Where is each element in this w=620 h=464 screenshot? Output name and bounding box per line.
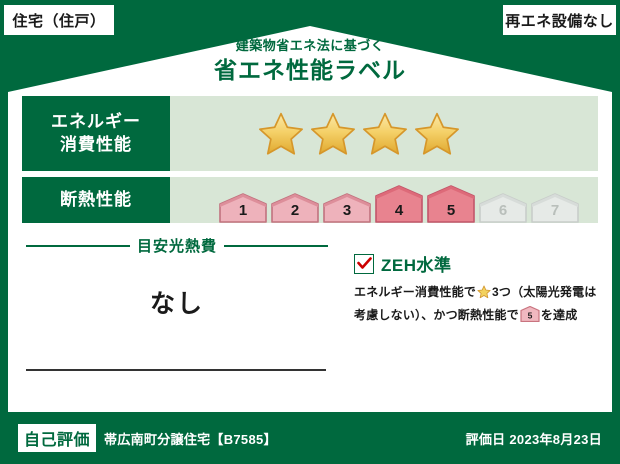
insulation-grade-5: 5	[426, 185, 476, 223]
zeh-title: ZEH水準	[381, 251, 452, 276]
insulation-label-text: 断熱性能	[60, 189, 132, 212]
insulation-grade-3: 3	[322, 193, 372, 223]
insulation-grade-2: 2	[270, 193, 320, 223]
page-title: 建築物省エネ法に基づく 省エネ性能ラベル	[0, 38, 620, 84]
grade-house-icon	[427, 185, 475, 223]
insulation-grade-4: 4	[374, 185, 424, 223]
energy-label-line2: 消費性能	[60, 134, 132, 157]
zeh-checkbox	[354, 254, 374, 274]
utility-cost-heading: 目安光熱費	[22, 235, 332, 256]
energy-performance-label: エネルギー 消費性能	[22, 96, 170, 171]
title-subtitle: 建築物省エネ法に基づく	[0, 38, 620, 54]
insulation-grade-1: 1	[218, 193, 268, 223]
grade-house-icon	[219, 193, 267, 223]
star-icon	[258, 111, 304, 157]
utility-cost-bottom-rule	[26, 369, 326, 371]
grade-house-icon	[375, 185, 423, 223]
insulation-grade-scale: 1234567	[170, 177, 580, 223]
grade-house-icon	[271, 193, 319, 223]
star-icon	[310, 111, 356, 157]
badge-building-type: 住宅（住戸）	[4, 5, 114, 35]
check-icon	[357, 257, 372, 270]
star-icon	[414, 111, 460, 157]
energy-label-line1: エネルギー	[51, 111, 141, 134]
grade-house-icon	[479, 193, 527, 223]
utility-cost-title: 目安光熱費	[137, 235, 217, 256]
badge-building-type-label: 住宅（住戸）	[12, 10, 105, 31]
grade-house-icon	[323, 193, 371, 223]
zeh-heading: ZEH水準	[354, 251, 598, 276]
energy-label: 住宅（住戸） 再エネ設備なし 建築物省エネ法に基づく 省エネ性能ラベル エネルギ…	[0, 0, 620, 464]
evaluation-date: 評価日 2023年8月23日	[466, 429, 602, 448]
self-evaluation-badge: 自己評価	[18, 424, 96, 452]
title-main: 省エネ性能ラベル	[0, 56, 620, 85]
utility-cost-value: なし	[22, 284, 332, 320]
energy-performance-row: エネルギー 消費性能	[22, 96, 598, 171]
utility-cost-section: 目安光熱費 なし	[22, 229, 332, 407]
insulation-performance-value: 1234567	[170, 177, 598, 223]
lower-section: 目安光熱費 なし ZEH水準 エネルギー消費性能で	[22, 229, 598, 407]
grade-house-icon	[531, 193, 579, 223]
zeh-desc-part2: 3つ（太陽光発電	[492, 285, 584, 299]
inline-grade-badge: 5	[520, 306, 540, 329]
footer: 自己評価 帯広南町分譲住宅【B7585】 評価日 2023年8月23日	[0, 412, 620, 464]
zeh-section: ZEH水準 エネルギー消費性能で 3つ（太陽光発電は考慮しない）、かつ断熱性能で…	[332, 229, 598, 407]
insulation-performance-label: 断熱性能	[22, 177, 170, 223]
insulation-grade-7: 7	[530, 193, 580, 223]
insulation-grade-6: 6	[478, 193, 528, 223]
project-name: 帯広南町分譲住宅【B7585】	[104, 429, 277, 448]
insulation-performance-row: 断熱性能 1234567	[22, 177, 598, 223]
star-rating	[170, 111, 460, 157]
inline-star-icon	[477, 285, 491, 306]
rule-left	[26, 245, 130, 247]
energy-performance-value	[170, 96, 598, 171]
zeh-desc-part1: エネルギー消費性能で	[354, 285, 476, 299]
label-body: エネルギー 消費性能 断熱性能 1234567 目安光熱費	[22, 96, 598, 405]
star-icon	[362, 111, 408, 157]
zeh-desc-part4: を達成	[541, 308, 578, 322]
badge-renewable-energy: 再エネ設備なし	[503, 5, 616, 35]
badge-renewable-energy-label: 再エネ設備なし	[505, 10, 614, 31]
inline-grade-number: 5	[527, 310, 532, 320]
zeh-description: エネルギー消費性能で 3つ（太陽光発電は考慮しない）、かつ断熱性能で 5 を達成	[354, 283, 598, 329]
rule-right	[224, 245, 328, 247]
